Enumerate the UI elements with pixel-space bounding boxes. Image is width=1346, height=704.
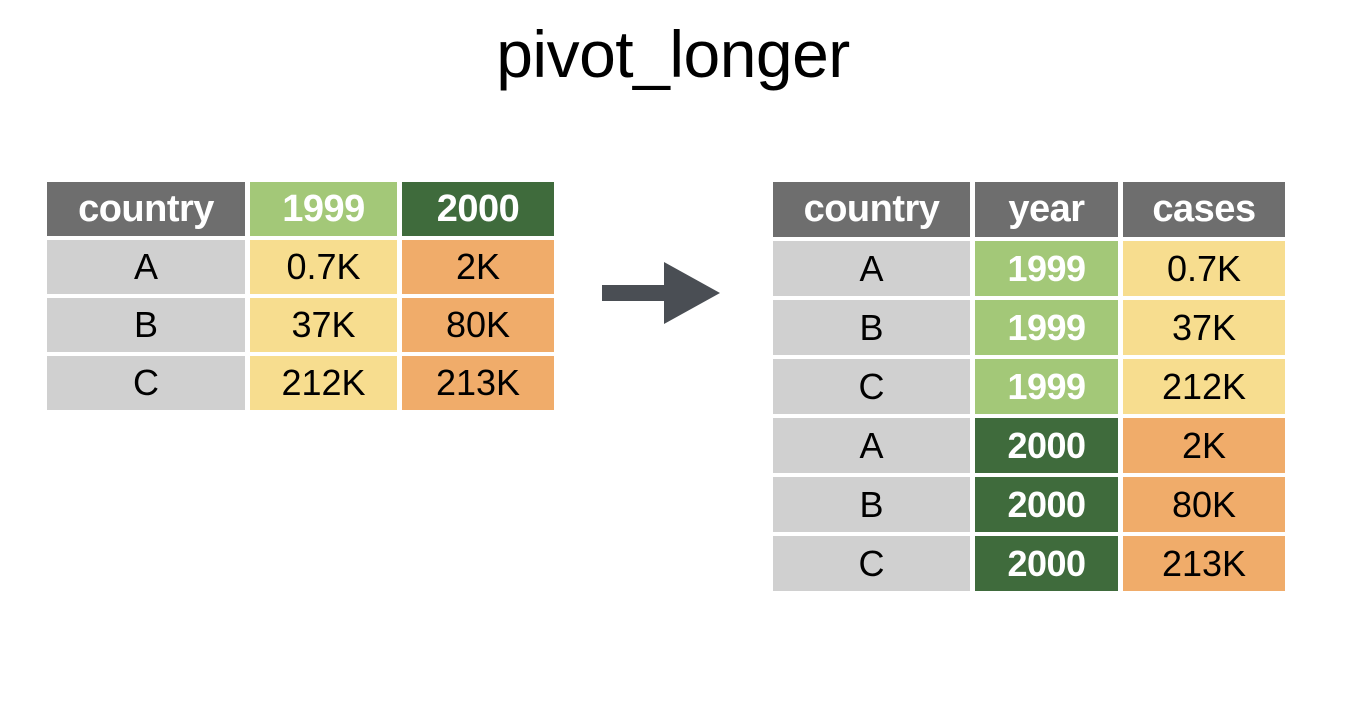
cell-cases: 37K <box>1123 300 1285 355</box>
cell-year: 2000 <box>975 418 1118 473</box>
header-cell-year: year <box>975 182 1118 237</box>
table-row: C 2000 213K <box>773 536 1285 591</box>
table-row: C 1999 212K <box>773 359 1285 414</box>
table-row: B 1999 37K <box>773 300 1285 355</box>
header-cell-cases: cases <box>1123 182 1285 237</box>
table-row: A 2000 2K <box>773 418 1285 473</box>
cell-country: C <box>47 356 245 410</box>
table-row: A 0.7K 2K <box>47 240 554 294</box>
table-row: B 2000 80K <box>773 477 1285 532</box>
wide-table: country 1999 2000 A 0.7K 2K B 37K 80K C … <box>47 182 554 410</box>
cell-year: 2000 <box>975 536 1118 591</box>
long-table: country year cases A 1999 0.7K B 1999 37… <box>773 182 1285 591</box>
cell-country: B <box>773 300 970 355</box>
cell-1999: 212K <box>250 356 397 410</box>
cell-cases: 80K <box>1123 477 1285 532</box>
header-cell-country: country <box>47 182 245 236</box>
table-row: B 37K 80K <box>47 298 554 352</box>
right-arrow-icon <box>602 262 722 324</box>
cell-year: 1999 <box>975 241 1118 296</box>
cell-cases: 213K <box>1123 536 1285 591</box>
cell-cases: 0.7K <box>1123 241 1285 296</box>
cell-year: 1999 <box>975 359 1118 414</box>
cell-country: A <box>773 241 970 296</box>
table-header-row: country year cases <box>773 182 1285 237</box>
page-title: pivot_longer <box>0 14 1346 94</box>
cell-2000: 2K <box>402 240 554 294</box>
header-cell-1999: 1999 <box>250 182 397 236</box>
table-row: A 1999 0.7K <box>773 241 1285 296</box>
cell-cases: 212K <box>1123 359 1285 414</box>
cell-2000: 213K <box>402 356 554 410</box>
cell-1999: 37K <box>250 298 397 352</box>
table-row: C 212K 213K <box>47 356 554 410</box>
header-cell-country: country <box>773 182 970 237</box>
cell-2000: 80K <box>402 298 554 352</box>
header-cell-2000: 2000 <box>402 182 554 236</box>
cell-country: B <box>773 477 970 532</box>
table-header-row: country 1999 2000 <box>47 182 554 236</box>
cell-country: C <box>773 536 970 591</box>
cell-country: B <box>47 298 245 352</box>
cell-country: A <box>47 240 245 294</box>
cell-1999: 0.7K <box>250 240 397 294</box>
cell-year: 1999 <box>975 300 1118 355</box>
cell-year: 2000 <box>975 477 1118 532</box>
cell-country: C <box>773 359 970 414</box>
cell-country: A <box>773 418 970 473</box>
cell-cases: 2K <box>1123 418 1285 473</box>
